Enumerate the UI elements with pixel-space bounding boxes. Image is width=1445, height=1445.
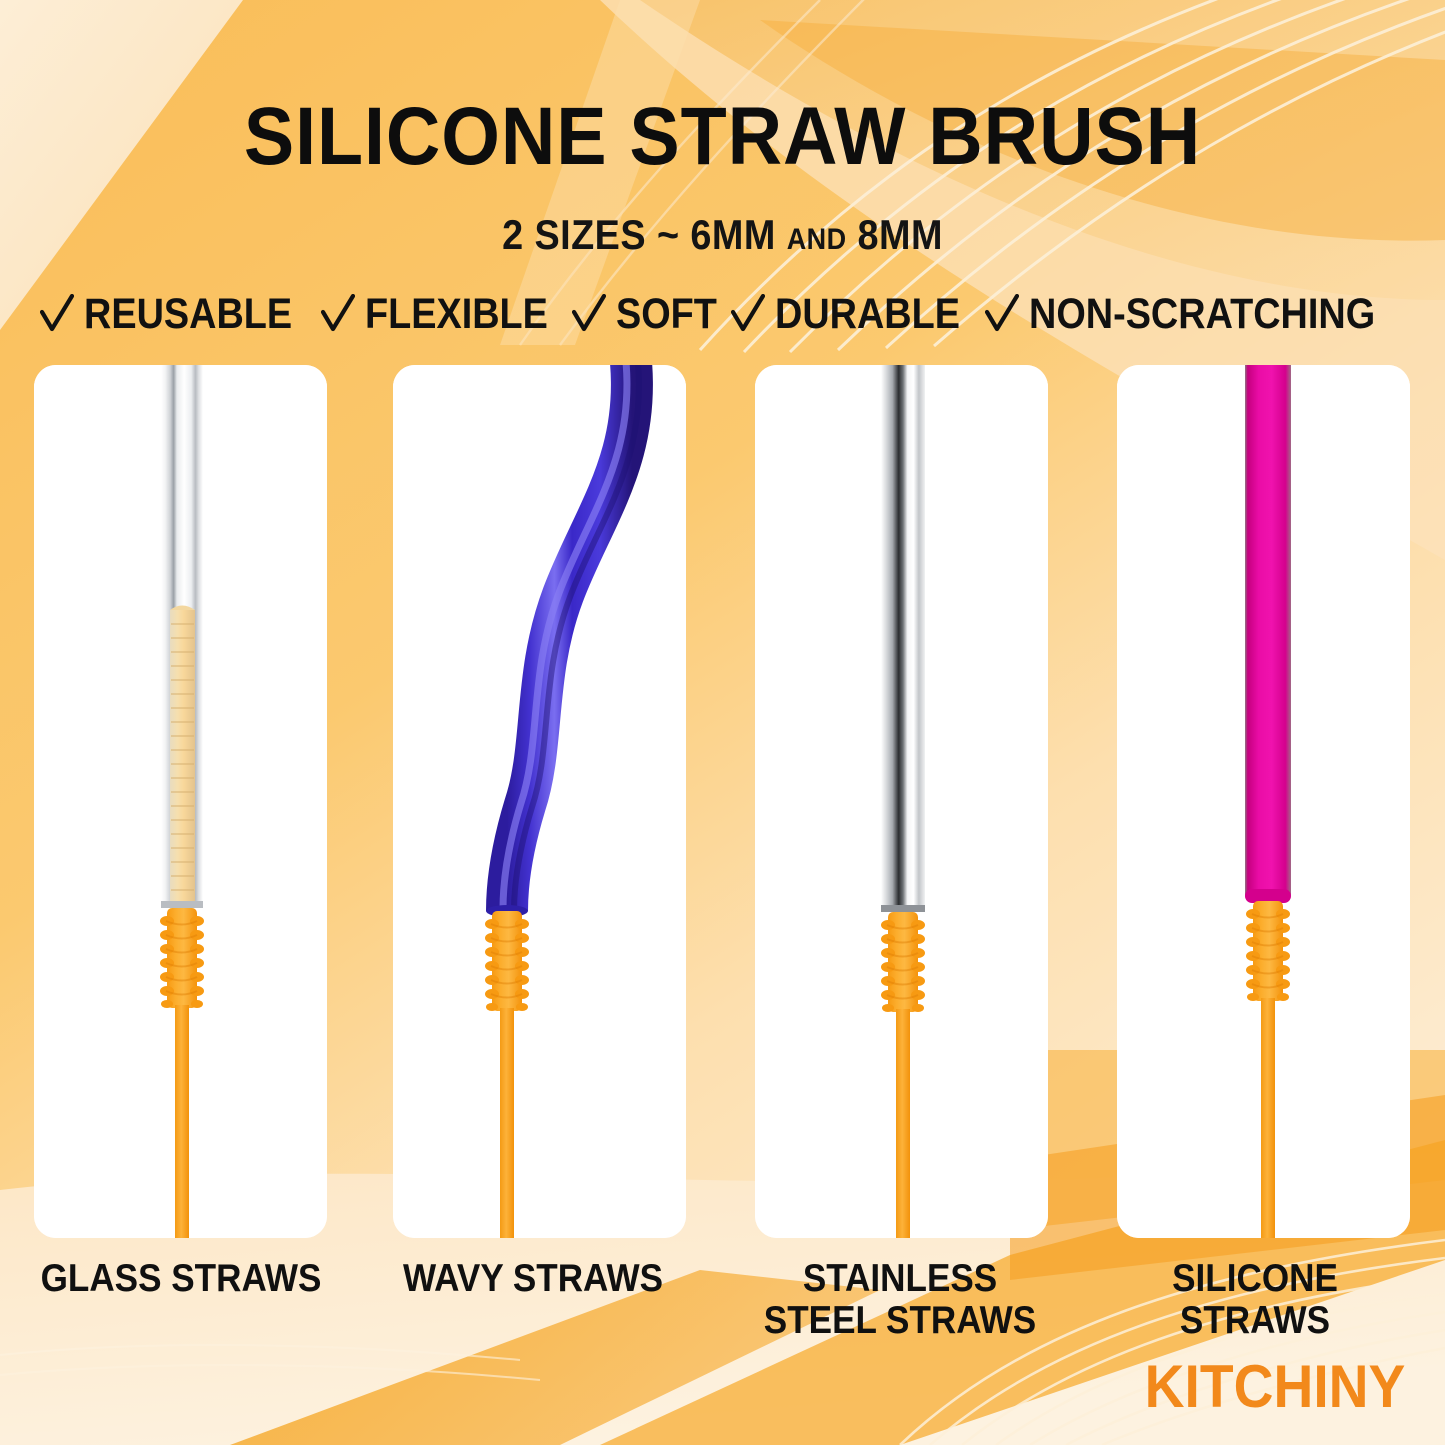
steel-straw-illustration — [755, 365, 1048, 1238]
product-card-stainless-steel-straws — [755, 365, 1048, 1238]
feature-item-durable: DURABLE — [731, 293, 985, 336]
product-card-wavy-straws — [393, 365, 686, 1238]
checkmark-icon — [40, 294, 74, 334]
checkmark-icon — [572, 294, 606, 334]
feature-item-soft: SOFT — [572, 293, 731, 336]
page-title: SILICONE STRAW BRUSH — [58, 96, 1387, 178]
brand-logo-text: KITCHINY — [1144, 1357, 1405, 1417]
product-infographic: SILICONE STRAW BRUSH 2 SIZES ~ 6MM AND 8… — [0, 0, 1445, 1445]
caption-silicone-straws: SILICONE STRAWS — [1107, 1258, 1404, 1342]
subtitle-and: AND — [787, 223, 847, 256]
caption-stainless-steel-straws: STAINLESS STEEL STRAWS — [752, 1258, 1049, 1342]
feature-label: DURABLE — [775, 293, 960, 336]
subtitle-tail: 8MM — [847, 211, 943, 258]
subtitle-main: 2 SIZES ~ 6MM — [502, 211, 787, 258]
feature-item-reusable: REUSABLE — [40, 293, 321, 336]
wavy-straw-illustration — [393, 365, 686, 1238]
checkmark-icon — [985, 294, 1019, 334]
checkmark-icon — [731, 294, 765, 334]
silicone-straw-illustration — [1117, 365, 1410, 1238]
feature-label: NON-SCRATCHING — [1029, 293, 1375, 336]
caption-wavy-straws: WAVY STRAWS — [385, 1258, 682, 1300]
checkmark-icon — [321, 294, 355, 334]
feature-list: REUSABLE FLEXIBLE SOFT DURABLE NON-SCRAT… — [40, 286, 1413, 342]
glass-straw-illustration — [34, 365, 327, 1238]
feature-label: FLEXIBLE — [365, 293, 548, 336]
feature-item-non-scratching: NON-SCRATCHING — [985, 293, 1422, 336]
product-card-silicone-straws — [1117, 365, 1410, 1238]
feature-label: REUSABLE — [84, 293, 292, 336]
feature-item-flexible: FLEXIBLE — [321, 293, 573, 336]
caption-glass-straws: GLASS STRAWS — [33, 1258, 330, 1300]
subtitle: 2 SIZES ~ 6MM AND 8MM — [72, 214, 1373, 256]
feature-label: SOFT — [616, 293, 717, 336]
product-card-glass-straws — [34, 365, 327, 1238]
